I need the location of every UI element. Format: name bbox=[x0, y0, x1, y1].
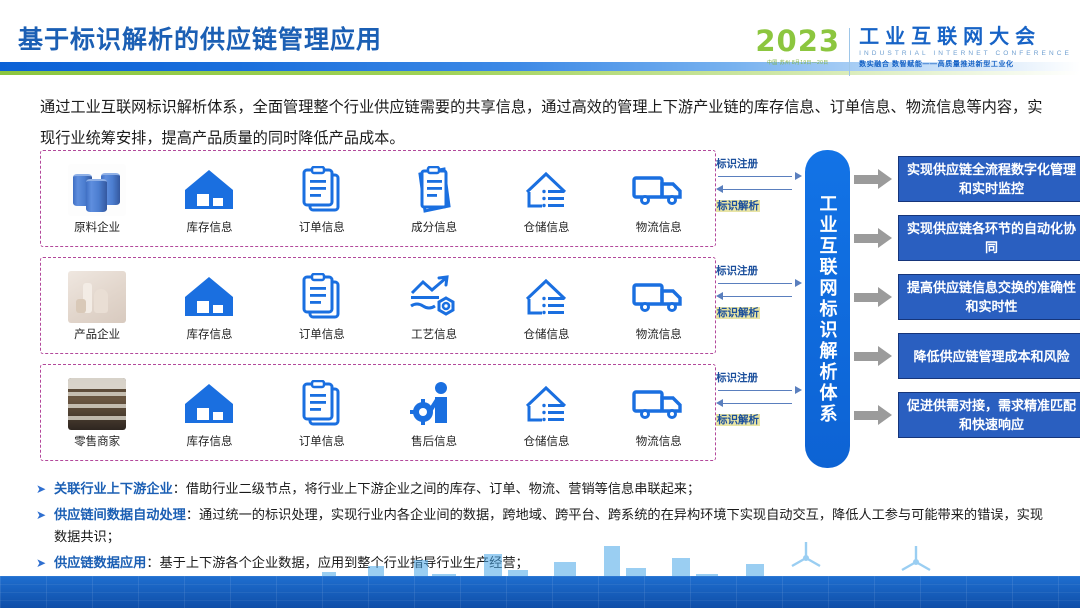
diagram-cell: 物流信息 bbox=[603, 365, 715, 460]
arrow-label-register: 标识注册 bbox=[716, 372, 802, 384]
arrow-label-register: 标识注册 bbox=[716, 158, 802, 170]
logo-name-cn: 工业互联网大会 bbox=[859, 26, 1072, 48]
cell-label: 订单信息 bbox=[299, 326, 345, 342]
warehouse-icon bbox=[183, 162, 235, 218]
diagram-row-product-enterprise: 产品企业 库存信息 订单信息 工艺信息 bbox=[40, 257, 716, 354]
cell-label: 物流信息 bbox=[636, 326, 682, 342]
diagram-cell: 订单信息 bbox=[266, 365, 378, 460]
diagram-cell: 工艺信息 bbox=[378, 258, 490, 353]
bullet-item: ➤ 关联行业上下游企业：借助行业二级节点，将行业上下游企业之间的库存、订单、物流… bbox=[36, 478, 1046, 500]
result-box: 提高供应链信息交换的准确性和实时性 bbox=[898, 274, 1080, 320]
diagram-cell: 仓储信息 bbox=[490, 151, 602, 246]
storage-house-icon bbox=[520, 376, 572, 432]
warehouse-icon bbox=[183, 376, 235, 432]
result-arrow-icon bbox=[854, 228, 894, 248]
arrow-label-resolve: 标识解析 bbox=[716, 307, 760, 319]
cell-label: 售后信息 bbox=[411, 433, 457, 449]
cell-label: 订单信息 bbox=[299, 433, 345, 449]
diagram-cell: 仓储信息 bbox=[490, 258, 602, 353]
barrels-photo-icon bbox=[68, 162, 126, 218]
cell-label: 物流信息 bbox=[636, 433, 682, 449]
arrow-label-register: 标识注册 bbox=[716, 265, 802, 277]
clipboard-icon bbox=[299, 269, 345, 325]
logo-year: 2023 bbox=[755, 26, 840, 56]
logo-year-block: 2023 中国·苏州 8月19日—20日 bbox=[755, 26, 849, 66]
identity-resolution-hub: 工业互联网标识解析体系 bbox=[805, 150, 850, 468]
truck-icon bbox=[631, 376, 687, 432]
diagram-cell: 库存信息 bbox=[153, 258, 265, 353]
diagram-cell: 库存信息 bbox=[153, 151, 265, 246]
arrow-label-resolve: 标识解析 bbox=[716, 200, 760, 212]
logo-date: 中国·苏州 8月19日—20日 bbox=[767, 59, 828, 66]
diagram-cell: 物流信息 bbox=[603, 151, 715, 246]
storage-house-icon bbox=[520, 269, 572, 325]
bullet-text: 供应链间数据自动处理：通过统一的标识处理，实现行业内各企业间的数据，跨地域、跨平… bbox=[54, 504, 1046, 548]
diagram-cell: 订单信息 bbox=[266, 151, 378, 246]
cell-label: 库存信息 bbox=[186, 326, 232, 342]
hub-label: 工业互联网标识解析体系 bbox=[817, 194, 839, 425]
logo-name-en: INDUSTRIAL INTERNET CONFERENCE bbox=[859, 50, 1072, 57]
page-title: 基于标识解析的供应链管理应用 bbox=[18, 20, 382, 56]
chevron-right-icon: ➤ bbox=[36, 504, 54, 526]
supply-chain-diagram: 原料企业 库存信息 订单信息 成分信息 bbox=[40, 150, 1045, 475]
cell-label: 仓储信息 bbox=[523, 219, 569, 235]
bullet-item: ➤ 供应链间数据自动处理：通过统一的标识处理，实现行业内各企业间的数据，跨地域、… bbox=[36, 504, 1046, 548]
diagram-cell: 零售商家 bbox=[41, 365, 153, 460]
cell-label: 零售商家 bbox=[74, 433, 120, 449]
cell-label: 订单信息 bbox=[299, 219, 345, 235]
arrow-label-resolve: 标识解析 bbox=[716, 414, 760, 426]
diagram-cell: 售后信息 bbox=[378, 365, 490, 460]
truck-icon bbox=[631, 162, 687, 218]
arrow-group-raw-material: 标识注册 标识解析 bbox=[716, 158, 802, 214]
retail-photo-icon bbox=[68, 376, 126, 432]
result-arrow-icon bbox=[854, 346, 894, 366]
skyline-ground bbox=[0, 576, 1080, 608]
result-box: 促进供需对接，需求精准匹配和快速响应 bbox=[898, 392, 1080, 438]
cell-label: 库存信息 bbox=[186, 433, 232, 449]
truck-icon bbox=[631, 269, 687, 325]
arrow-left bbox=[716, 397, 802, 410]
cell-label: 产品企业 bbox=[74, 326, 120, 342]
chevron-right-icon: ➤ bbox=[36, 478, 54, 500]
bullet-body: ：通过统一的标识处理，实现行业内各企业间的数据，跨地域、跨平台、跨系统的在异构环… bbox=[54, 507, 1043, 544]
cell-label: 物流信息 bbox=[636, 219, 682, 235]
document-list-icon bbox=[411, 162, 457, 218]
cell-label: 原料企业 bbox=[74, 219, 120, 235]
arrow-left bbox=[716, 290, 802, 303]
logo-text-block: 工业互联网大会 INDUSTRIAL INTERNET CONFERENCE 数… bbox=[859, 26, 1072, 69]
bullet-heading: 供应链间数据自动处理 bbox=[54, 507, 186, 522]
result-arrow-icon bbox=[854, 287, 894, 307]
bullet-body: ：基于上下游各个企业数据，应用到整个行业指导行业生产经营； bbox=[146, 555, 528, 570]
result-arrow-icon bbox=[854, 405, 894, 425]
bullet-heading: 供应链数据应用 bbox=[54, 555, 146, 570]
diagram-cell: 订单信息 bbox=[266, 258, 378, 353]
bullet-text: 关联行业上下游企业：借助行业二级节点，将行业上下游企业之间的库存、订单、物流、营… bbox=[54, 478, 700, 500]
intro-paragraph: 通过工业互联网标识解析体系，全面管理整个行业供应链需要的共享信息，通过高效的管理… bbox=[40, 92, 1045, 154]
arrow-right bbox=[716, 384, 802, 397]
cell-label: 仓储信息 bbox=[523, 326, 569, 342]
warehouse-icon bbox=[183, 269, 235, 325]
arrow-left bbox=[716, 183, 802, 196]
arrow-group-product-enterprise: 标识注册 标识解析 bbox=[716, 265, 802, 321]
diagram-cell: 物流信息 bbox=[603, 258, 715, 353]
cell-label: 库存信息 bbox=[186, 219, 232, 235]
diagram-cell: 原料企业 bbox=[41, 151, 153, 246]
cell-label: 成分信息 bbox=[411, 219, 457, 235]
process-chart-icon bbox=[406, 269, 462, 325]
result-arrow-icon bbox=[854, 169, 894, 189]
cell-label: 仓储信息 bbox=[523, 433, 569, 449]
bullet-text: 供应链数据应用：基于上下游各个企业数据，应用到整个行业指导行业生产经营； bbox=[54, 552, 529, 574]
result-box: 实现供应链全流程数字化管理和实时监控 bbox=[898, 156, 1080, 202]
slide-root: 基于标识解析的供应链管理应用 2023 中国·苏州 8月19日—20日 工业互联… bbox=[0, 0, 1080, 608]
chevron-right-icon: ➤ bbox=[36, 552, 54, 574]
logo-divider bbox=[849, 28, 850, 76]
product-photo-icon bbox=[68, 269, 126, 325]
diagram-cell: 成分信息 bbox=[378, 151, 490, 246]
after-sales-icon bbox=[408, 376, 460, 432]
bullet-body: ：借助行业二级节点，将行业上下游企业之间的库存、订单、物流、营销等信息串联起来； bbox=[173, 481, 701, 496]
result-box: 降低供应链管理成本和风险 bbox=[898, 333, 1080, 379]
diagram-row-retailer: 零售商家 库存信息 订单信息 售后信息 bbox=[40, 364, 716, 461]
diagram-cell: 仓储信息 bbox=[490, 365, 602, 460]
clipboard-icon bbox=[299, 376, 345, 432]
conference-logo: 2023 中国·苏州 8月19日—20日 工业互联网大会 INDUSTRIAL … bbox=[755, 26, 1072, 78]
skyline-grid bbox=[0, 576, 1080, 608]
logo-slogan: 数实融合 数智赋能——高质量推进新型工业化 bbox=[859, 59, 1072, 69]
clipboard-icon bbox=[299, 162, 345, 218]
bullet-item: ➤ 供应链数据应用：基于上下游各个企业数据，应用到整个行业指导行业生产经营； bbox=[36, 552, 1046, 574]
arrow-right bbox=[716, 170, 802, 183]
result-box: 实现供应链各环节的自动化协同 bbox=[898, 215, 1080, 261]
diagram-cell: 产品企业 bbox=[41, 258, 153, 353]
diagram-row-raw-material: 原料企业 库存信息 订单信息 成分信息 bbox=[40, 150, 716, 247]
arrow-group-retailer: 标识注册 标识解析 bbox=[716, 372, 802, 428]
cell-label: 工艺信息 bbox=[411, 326, 457, 342]
arrow-right bbox=[716, 277, 802, 290]
bullet-list: ➤ 关联行业上下游企业：借助行业二级节点，将行业上下游企业之间的库存、订单、物流… bbox=[36, 478, 1046, 578]
bullet-heading: 关联行业上下游企业 bbox=[54, 481, 173, 496]
storage-house-icon bbox=[520, 162, 572, 218]
diagram-cell: 库存信息 bbox=[153, 365, 265, 460]
